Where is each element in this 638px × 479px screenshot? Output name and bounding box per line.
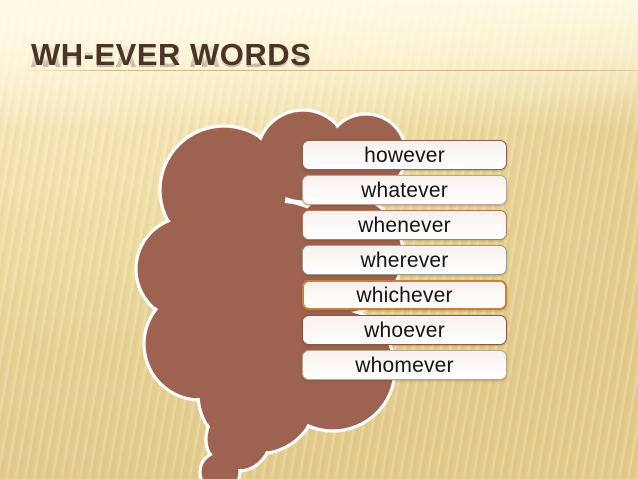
- word-item-whenever[interactable]: whenever: [302, 210, 507, 240]
- word-list: however whatever whenever wherever which…: [302, 140, 507, 380]
- word-item-whoever[interactable]: whoever: [302, 315, 507, 345]
- word-label: wherever: [361, 250, 449, 271]
- word-label: whenever: [358, 215, 451, 236]
- word-item-wherever[interactable]: wherever: [302, 245, 507, 275]
- word-item-whomever[interactable]: whomever: [302, 350, 507, 380]
- word-label: whichever: [356, 285, 452, 306]
- word-item-whichever[interactable]: whichever: [302, 280, 507, 310]
- page-title-reflection: Wh-ever words: [31, 39, 591, 73]
- word-item-however[interactable]: however: [302, 140, 507, 170]
- word-label: however: [364, 145, 445, 166]
- word-label: whoever: [364, 320, 445, 341]
- slide-canvas: Wh-ever words Wh-ever words: [0, 0, 638, 479]
- word-item-whatever[interactable]: whatever: [302, 175, 507, 205]
- word-label: whatever: [361, 180, 448, 201]
- word-label: whomever: [355, 355, 453, 376]
